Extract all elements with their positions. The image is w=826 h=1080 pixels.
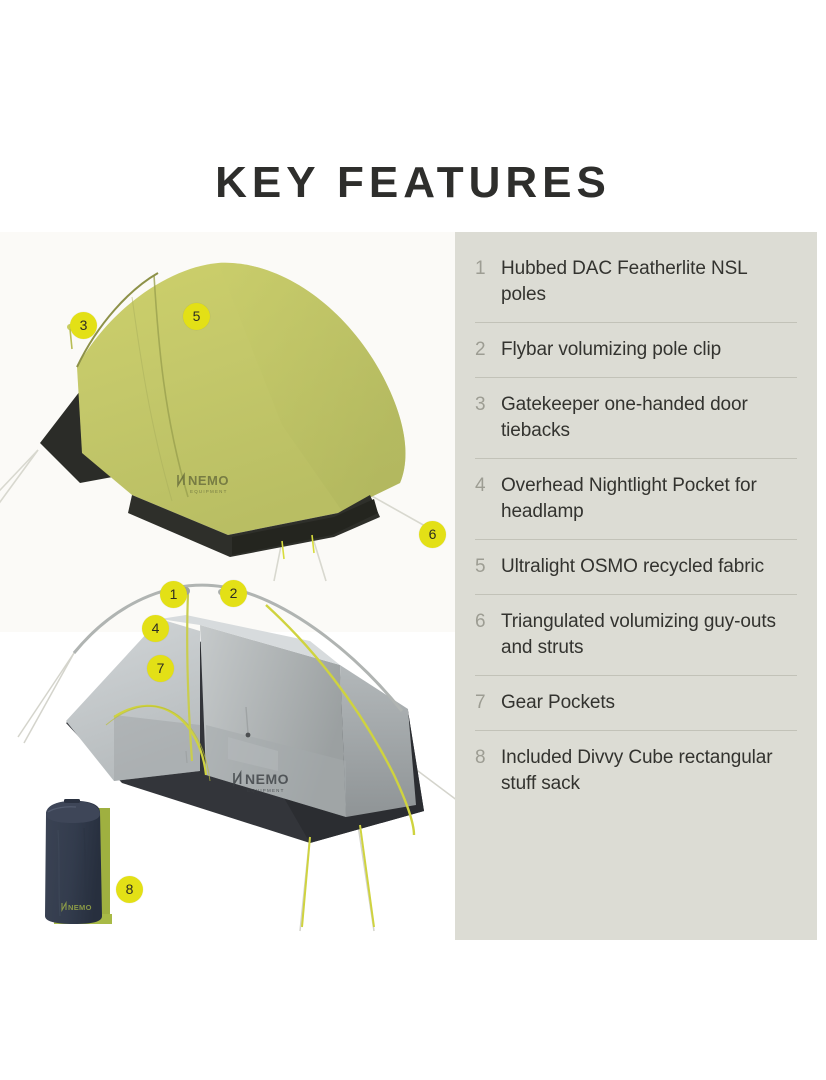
callout-badge-4[interactable]: 4 [142, 615, 169, 642]
feature-label: Ultralight OSMO recycled fabric [501, 554, 764, 580]
callout-badge-1[interactable]: 1 [160, 581, 187, 608]
svg-text:NEMO: NEMO [188, 473, 229, 488]
page-title: KEY FEATURES [0, 158, 826, 208]
svg-text:EQUIPMENT: EQUIPMENT [190, 489, 228, 494]
feature-number: 7 [475, 690, 501, 716]
feature-number: 6 [475, 609, 501, 635]
feature-label: Hubbed DAC Featherlite NSL poles [501, 256, 797, 308]
callout-badge-2[interactable]: 2 [220, 580, 247, 607]
svg-text:EQUIPMENT: EQUIPMENT [247, 788, 285, 793]
features-list: 1Hubbed DAC Featherlite NSL poles2Flybar… [475, 242, 797, 811]
feature-item-3: 3Gatekeeper one-handed door tiebacks [475, 378, 797, 459]
key-features-page: KEY FEATURES [0, 0, 826, 1080]
callout-badge-5[interactable]: 5 [183, 303, 210, 330]
feature-label: Gatekeeper one-handed door tiebacks [501, 392, 797, 444]
feature-item-5: 5Ultralight OSMO recycled fabric [475, 540, 797, 595]
feature-item-1: 1Hubbed DAC Featherlite NSL poles [475, 242, 797, 323]
feature-label: Gear Pockets [501, 690, 615, 716]
svg-text:NEMO: NEMO [245, 771, 289, 787]
feature-number: 4 [475, 473, 501, 499]
feature-number: 5 [475, 554, 501, 580]
feature-label: Triangulated volumizing guy-outs and str… [501, 609, 797, 661]
callout-badge-3[interactable]: 3 [70, 312, 97, 339]
features-panel: 1Hubbed DAC Featherlite NSL poles2Flybar… [455, 232, 817, 940]
feature-item-4: 4Overhead Nightlight Pocket for headlamp [475, 459, 797, 540]
feature-label: Included Divvy Cube rectangular stuff sa… [501, 745, 797, 797]
feature-label: Overhead Nightlight Pocket for headlamp [501, 473, 797, 525]
feature-number: 8 [475, 745, 501, 771]
feature-item-8: 8Included Divvy Cube rectangular stuff s… [475, 731, 797, 811]
tent-rainfly-image: NEMO EQUIPMENT [0, 245, 452, 585]
feature-number: 1 [475, 256, 501, 282]
callout-badge-7[interactable]: 7 [147, 655, 174, 682]
feature-number: 3 [475, 392, 501, 418]
feature-item-6: 6Triangulated volumizing guy-outs and st… [475, 595, 797, 676]
callout-badge-8[interactable]: 8 [116, 876, 143, 903]
svg-text:NEMO: NEMO [68, 903, 92, 912]
callout-badge-6[interactable]: 6 [419, 521, 446, 548]
feature-item-2: 2Flybar volumizing pole clip [475, 323, 797, 378]
feature-number: 2 [475, 337, 501, 363]
feature-item-7: 7Gear Pockets [475, 676, 797, 731]
feature-label: Flybar volumizing pole clip [501, 337, 721, 363]
divvy-cube-image: NEMO [36, 790, 126, 930]
